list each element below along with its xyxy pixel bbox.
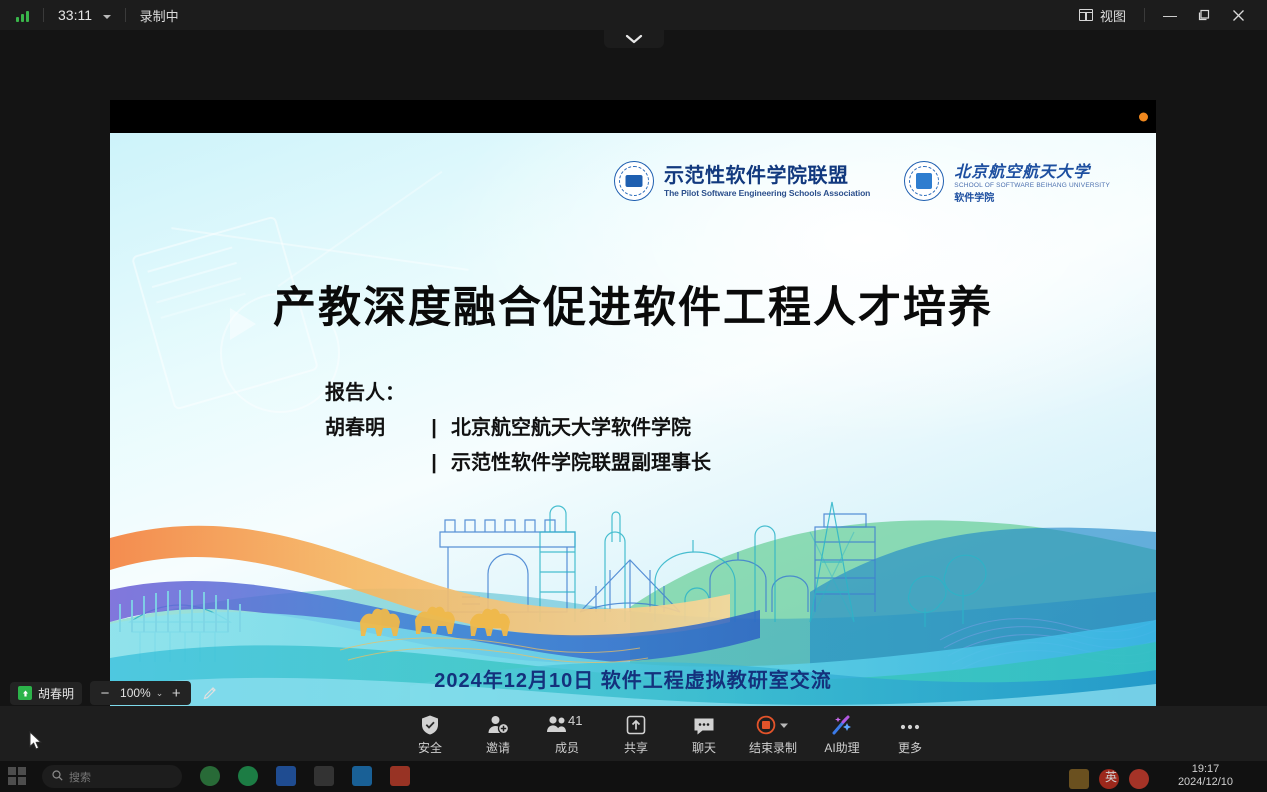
shield-check-icon [420, 714, 440, 736]
zoom-in-button[interactable]: + [165, 683, 187, 703]
person-add-icon [487, 714, 509, 736]
people-icon: 41 [546, 714, 588, 736]
minimize-button[interactable]: — [1153, 0, 1187, 30]
presenter-separator: | [417, 411, 451, 446]
presenter-separator: | [417, 446, 451, 481]
zoom-out-button[interactable]: − [94, 683, 116, 703]
meeting-timer[interactable]: 33:11 [58, 7, 111, 23]
beihang-logo-name: 北京航空航天大学 [954, 158, 1110, 182]
slide-logos: 示范性软件学院联盟 The Pilot Software Engineering… [614, 158, 1110, 204]
view-label: 视图 [1100, 6, 1126, 25]
presenter-row: 胡春明 | 北京航空航天大学软件学院 [325, 411, 711, 446]
zoom-controls: − 100% ⌄ + [90, 681, 191, 705]
shared-screen-stage: 示范性软件学院联盟 The Pilot Software Engineering… [0, 48, 1267, 705]
presenter-label-row: 报告人： [325, 376, 711, 411]
chevron-down-icon [103, 15, 111, 19]
recording-indicator-dot [1139, 112, 1148, 121]
sharer-chip[interactable]: 胡春明 [10, 682, 82, 705]
presenter-affiliation: 示范性软件学院联盟副理事长 [451, 446, 711, 481]
chevron-down-icon[interactable]: ⌄ [156, 688, 164, 699]
presenter-affiliation: 北京航空航天大学软件学院 [451, 411, 691, 446]
mouse-cursor [29, 731, 42, 750]
alliance-logo-subtitle: The Pilot Software Engineering Schools A… [664, 188, 870, 198]
pencil-icon [202, 685, 218, 701]
slide-presenter-block: 报告人： 胡春明 | 北京航空航天大学软件学院 | 示范性软件学院联盟副理事长 [325, 376, 711, 481]
stop-record-icon [756, 714, 790, 736]
slide-title: 产教深度融合促进软件工程人才培养 [110, 273, 1156, 335]
presentation-slide[interactable]: 示范性软件学院联盟 The Pilot Software Engineering… [110, 133, 1156, 722]
beihang-logo: 北京航空航天大学 SCHOOL OF SOFTWARE BEIHANG UNIV… [904, 158, 1110, 204]
view-button[interactable]: 视图 [1069, 0, 1136, 30]
grid-view-icon [1079, 9, 1093, 21]
window-titlebar: 33:11 录制中 视图 — [0, 0, 1267, 30]
chevron-down-icon [625, 34, 643, 44]
watermark-line-decoration-2 [278, 171, 443, 287]
annotate-button[interactable] [197, 683, 223, 703]
titlebar-divider-2 [125, 8, 126, 22]
presenter-row: | 示范性软件学院联盟副理事长 [325, 446, 711, 481]
maximize-icon [1198, 9, 1210, 21]
close-icon [1232, 9, 1245, 22]
zoom-meeting-window: 33:11 录制中 视图 — [0, 0, 1267, 792]
close-button[interactable] [1221, 0, 1255, 30]
titlebar-right-group: 视图 — [1069, 0, 1267, 30]
sharer-name: 胡春明 [38, 685, 74, 702]
more-dots-icon [898, 714, 922, 736]
beihang-logo-school: 软件学院 [954, 189, 1110, 204]
alliance-logo-name: 示范性软件学院联盟 [664, 165, 870, 188]
share-up-icon [18, 686, 32, 700]
video-player-overlay: 19:12 / 1:53:37 [0, 735, 1267, 792]
collapse-toolbar-handle[interactable] [604, 30, 664, 48]
share-control-bar: 胡春明 − 100% ⌄ + [0, 680, 1267, 706]
beihang-seal-icon [904, 161, 944, 201]
chat-bubble-icon [693, 714, 715, 736]
presenter-label: 报告人： [325, 376, 405, 411]
maximize-button[interactable] [1187, 0, 1221, 30]
svg-text:41: 41 [568, 714, 582, 728]
beihang-logo-subtitle: SCHOOL OF SOFTWARE BEIHANG UNIVERSITY [954, 182, 1110, 189]
ai-sparkle-icon [831, 714, 853, 736]
share-screen-icon [626, 714, 646, 736]
alliance-logo: 示范性软件学院联盟 The Pilot Software Engineering… [614, 161, 870, 201]
alliance-seal-icon [614, 161, 654, 201]
signal-bars-icon [16, 9, 29, 22]
titlebar-divider-3 [1144, 8, 1145, 22]
shared-window-topbar [110, 100, 1156, 133]
titlebar-left-group: 33:11 录制中 [0, 6, 179, 25]
presenter-name: 胡春明 [325, 411, 417, 446]
zoom-value[interactable]: 100% [118, 686, 153, 700]
titlebar-divider-1 [43, 8, 44, 22]
recording-status: 录制中 [140, 6, 179, 25]
